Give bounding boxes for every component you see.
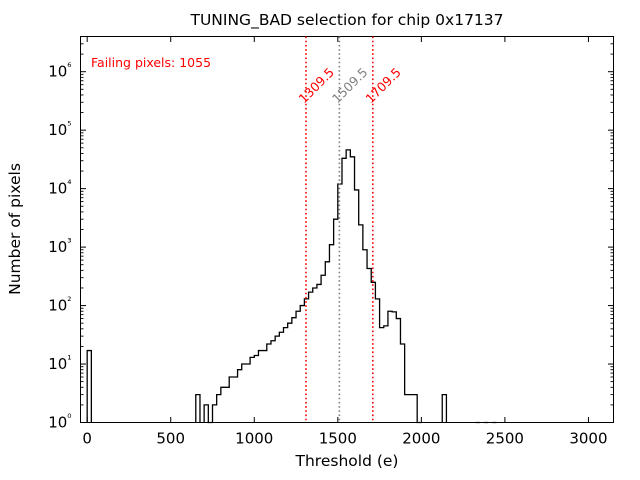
x-axis-label: Threshold (e) — [295, 452, 399, 470]
x-tick-label: 1000 — [235, 430, 273, 448]
page-title: TUNING_BAD selection for chip 0x17137 — [189, 11, 503, 30]
x-tick-label: 500 — [156, 430, 185, 448]
x-tick-label: 2000 — [402, 430, 440, 448]
failing-pixels-annotation: Failing pixels: 1055 — [91, 55, 211, 70]
histogram-plot: TUNING_BAD selection for chip 0x17137 10… — [0, 0, 640, 480]
x-tick-label: 1500 — [319, 430, 357, 448]
x-tick-label: 0 — [82, 430, 92, 448]
y-axis-label: Number of pixels — [6, 163, 24, 295]
x-tick-label: 2500 — [486, 430, 524, 448]
x-tick-label: 3000 — [569, 430, 607, 448]
matplotlib-figure: TUNING_BAD selection for chip 0x17137 10… — [0, 0, 640, 480]
